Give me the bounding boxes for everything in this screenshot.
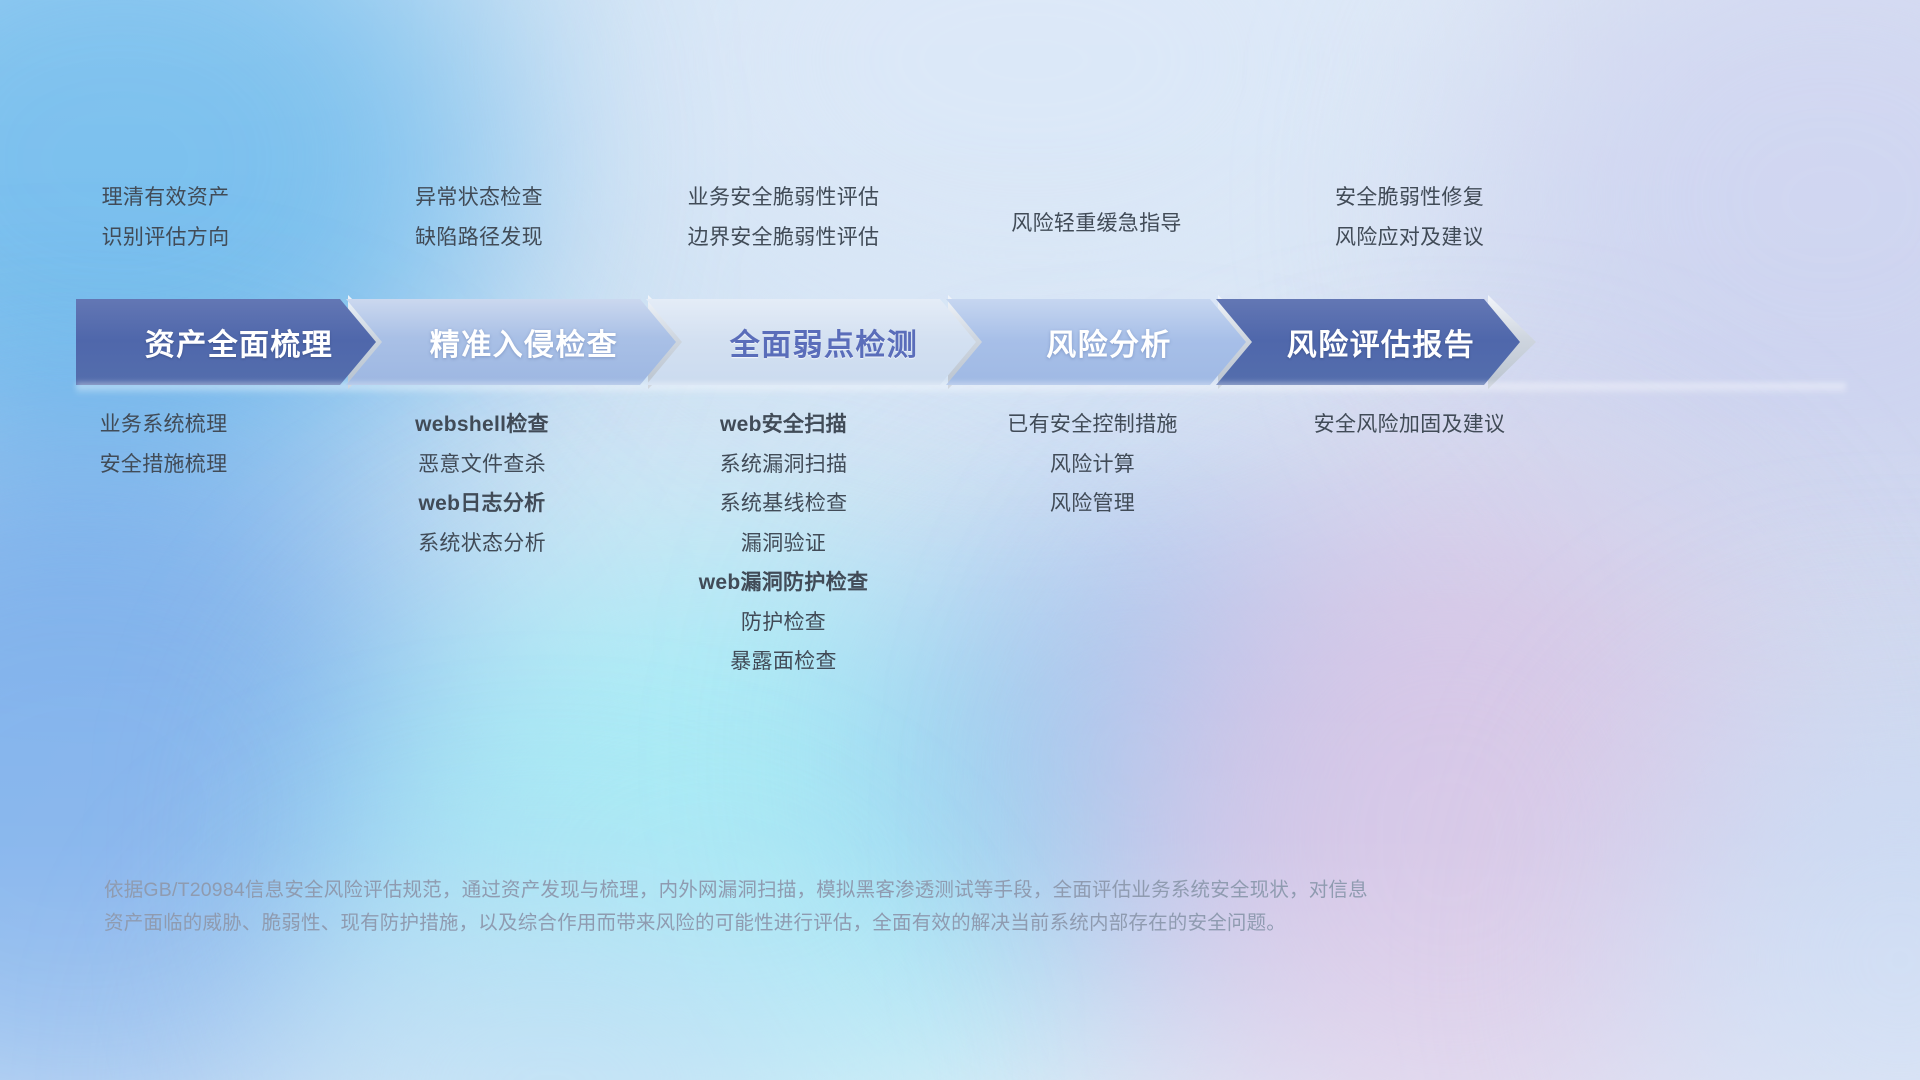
- activity-list: webshell检查 恶意文件查杀 web日志分析 系统状态分析: [336, 405, 628, 563]
- activity-list: 安全风险加固及建议: [1232, 405, 1587, 445]
- stage-title: 资产全面梳理: [76, 320, 376, 364]
- stage-column-weakness-detection: 业务安全脆弱性评估 边界安全脆弱性评估: [633, 178, 940, 258]
- activity-item: 漏洞验证: [741, 524, 826, 564]
- stage-outcomes-row: 理清有效资产 识别评估方向 异常状态检查 缺陷路径发现 业务安全脆弱性评估 边界…: [0, 178, 1920, 288]
- outcome-item: 边界安全脆弱性评估: [688, 218, 880, 258]
- outcome-list: 异常状态检查 缺陷路径发现: [333, 178, 625, 258]
- ribbon-highlight: [76, 383, 1846, 395]
- outcome-list: 风险轻重缓急指导: [950, 204, 1243, 244]
- outcome-item: 业务安全脆弱性评估: [688, 178, 880, 218]
- stage-column-risk-analysis: 风险轻重缓急指导: [940, 178, 1233, 218]
- outcome-item: 理清有效资产: [102, 178, 230, 218]
- activity-item: 风险计算: [1050, 445, 1135, 485]
- footer-line: 资产面临的威胁、脆弱性、现有防护措施，以及综合作用而带来风险的可能性进行评估，全…: [104, 907, 1624, 940]
- stage-column-asset-inventory: 理清有效资产 识别评估方向: [0, 178, 341, 258]
- activity-item: 系统漏洞扫描: [720, 445, 848, 485]
- activity-item: 风险管理: [1050, 484, 1135, 524]
- stage-chevron-intrusion-check[interactable]: 精准入侵检查: [346, 299, 676, 385]
- activity-item: webshell检查: [415, 405, 549, 445]
- stage-chevron-asset-inventory[interactable]: 资产全面梳理: [76, 299, 376, 385]
- outcome-item: 识别评估方向: [102, 218, 230, 258]
- outcome-item: 缺陷路径发现: [415, 218, 543, 258]
- activity-item: 已有安全控制措施: [1007, 405, 1177, 445]
- activity-item: 恶意文件查杀: [418, 445, 546, 485]
- activity-item: web安全扫描: [720, 405, 847, 445]
- footer-line: 依据GB/T20984信息安全风险评估规范，通过资产发现与梳理，内外网漏洞扫描，…: [104, 874, 1624, 907]
- stage-title: 精准入侵检查: [346, 320, 676, 364]
- footer-description: 依据GB/T20984信息安全风险评估规范，通过资产发现与梳理，内外网漏洞扫描，…: [104, 874, 1624, 940]
- outcome-item: 安全脆弱性修复: [1335, 178, 1484, 218]
- activity-item: 业务系统梳理: [100, 405, 228, 445]
- stage-title: 全面弱点检测: [646, 320, 976, 364]
- stage-column-intrusion-check: 异常状态检查 缺陷路径发现: [341, 178, 633, 258]
- activity-item: 安全措施梳理: [100, 445, 228, 485]
- activity-item: web漏洞防护检查: [699, 563, 869, 603]
- outcome-item: 风险轻重缓急指导: [1011, 204, 1181, 244]
- stage-activities-row: 业务系统梳理 安全措施梳理 webshell检查 恶意文件查杀 web日志分析 …: [0, 405, 1920, 705]
- process-diagram: 理清有效资产 识别评估方向 异常状态检查 缺陷路径发现 业务安全脆弱性评估 边界…: [0, 0, 1920, 1080]
- activity-list: 业务系统梳理 安全措施梳理: [0, 405, 334, 484]
- stage-column-weakness-detection-activities: web安全扫描 系统漏洞扫描 系统基线检查 漏洞验证 web漏洞防护检查 防护检…: [633, 405, 940, 682]
- stage-column-intrusion-check-activities: webshell检查 恶意文件查杀 web日志分析 系统状态分析: [341, 405, 633, 563]
- outcome-list: 安全脆弱性修复 风险应对及建议: [1232, 178, 1587, 258]
- activity-list: web安全扫描 系统漏洞扫描 系统基线检查 漏洞验证 web漏洞防护检查 防护检…: [630, 405, 937, 682]
- stage-column-risk-report: 安全脆弱性修复 风险应对及建议: [1233, 178, 1588, 258]
- stage-chevron-ribbon: 资产全面梳理 精准入侵检查 全面弱点检测 风险分析 风险评估报告: [0, 299, 1920, 385]
- stage-chevron-weakness-detection[interactable]: 全面弱点检测: [646, 299, 976, 385]
- activity-item: 安全风险加固及建议: [1314, 405, 1506, 445]
- activity-item: web日志分析: [419, 484, 546, 524]
- activity-item: 暴露面检查: [730, 642, 837, 682]
- stage-column-risk-analysis-activities: 已有安全控制措施 风险计算 风险管理: [940, 405, 1233, 524]
- outcome-item: 风险应对及建议: [1335, 218, 1484, 258]
- outcome-item: 异常状态检查: [415, 178, 543, 218]
- outcome-list: 理清有效资产 识别评估方向: [0, 178, 336, 258]
- activity-item: 系统基线检查: [720, 484, 848, 524]
- stage-chevron-risk-analysis[interactable]: 风险分析: [946, 299, 1246, 385]
- activity-item: 防护检查: [741, 603, 826, 643]
- stage-column-risk-report-activities: 安全风险加固及建议: [1233, 405, 1588, 445]
- stage-title: 风险分析: [946, 320, 1246, 364]
- activity-list: 已有安全控制措施 风险计算 风险管理: [946, 405, 1239, 524]
- stage-chevron-risk-report[interactable]: 风险评估报告: [1216, 299, 1520, 385]
- stage-column-asset-inventory-activities: 业务系统梳理 安全措施梳理: [0, 405, 341, 484]
- activity-item: 系统状态分析: [418, 524, 546, 564]
- stage-title: 风险评估报告: [1216, 320, 1520, 364]
- outcome-list: 业务安全脆弱性评估 边界安全脆弱性评估: [630, 178, 937, 258]
